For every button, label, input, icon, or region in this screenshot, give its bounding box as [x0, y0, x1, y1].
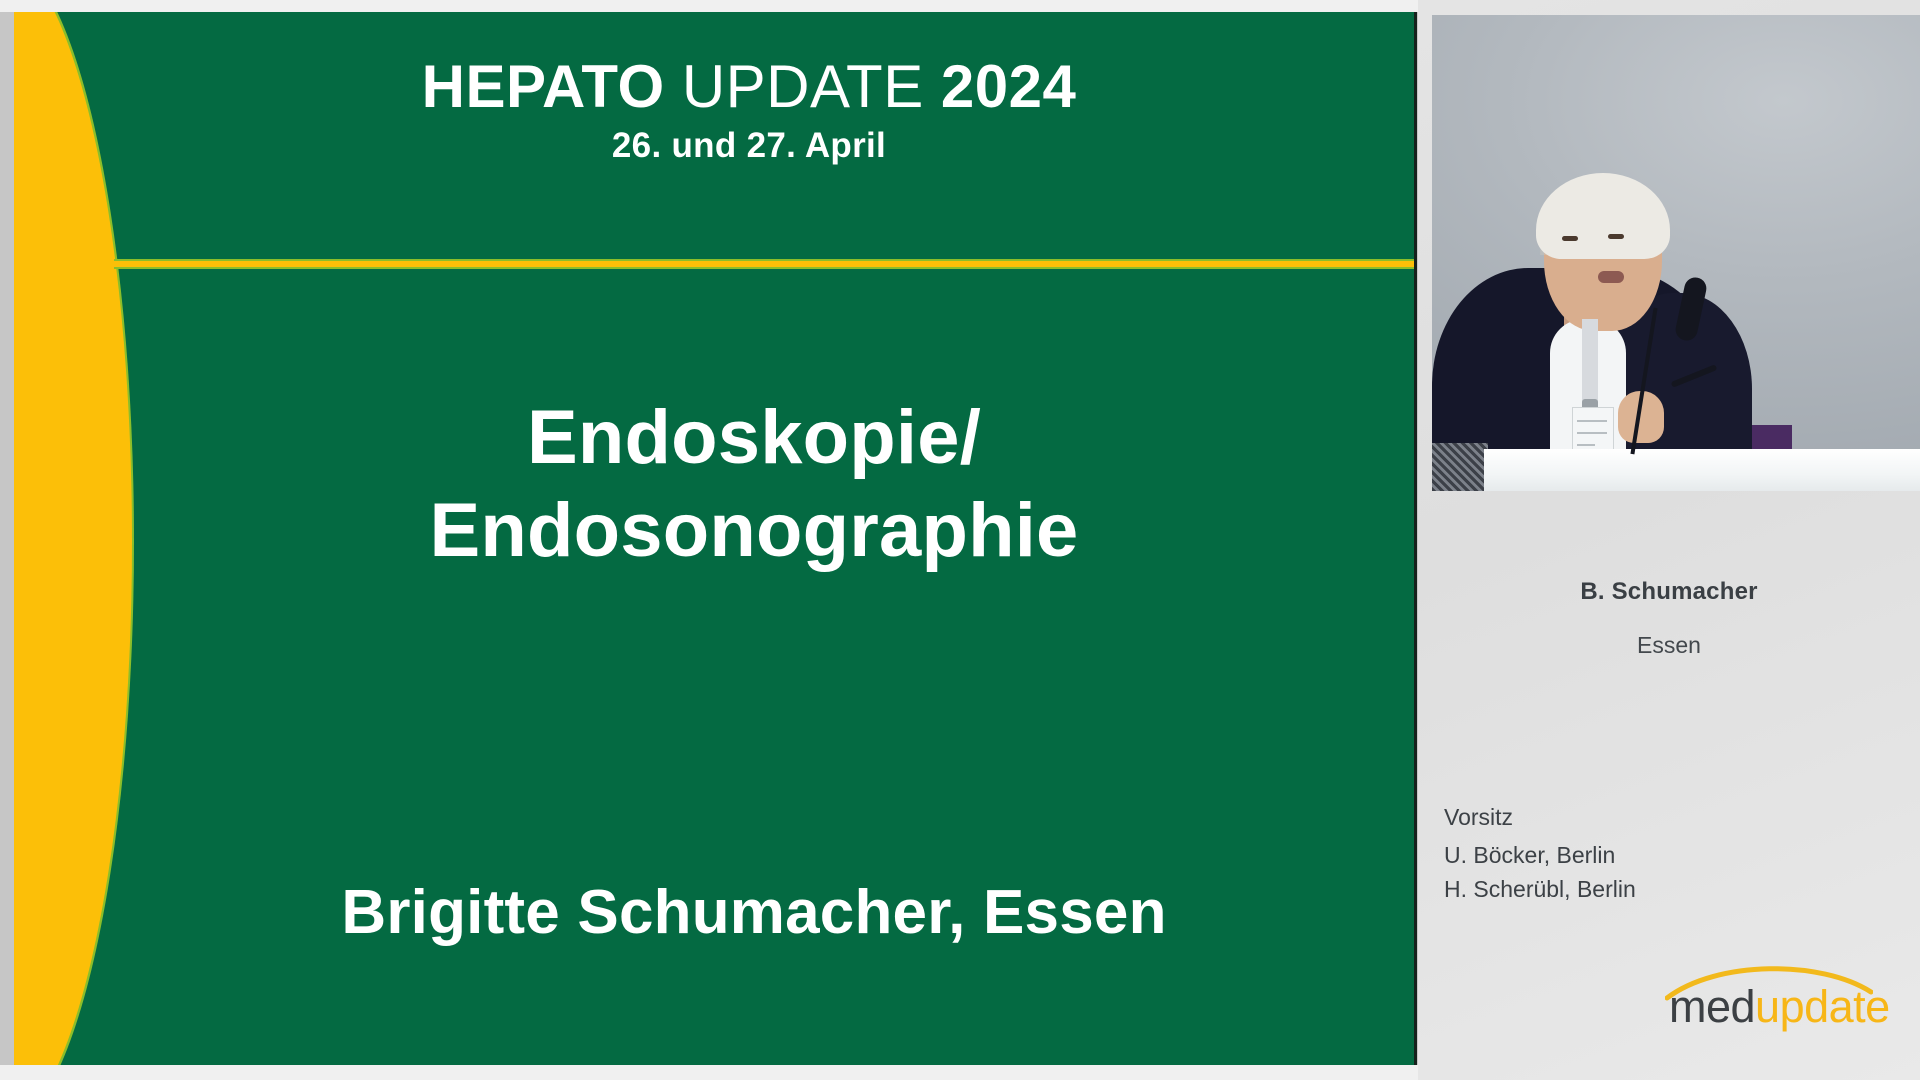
- presentation-slide[interactable]: HEPATO UPDATE 2024 26. und 27. April End…: [14, 12, 1417, 1065]
- speaker-video-feed[interactable]: [1432, 15, 1920, 491]
- speaker-mouth: [1598, 271, 1624, 283]
- speaker-panel: B. Schumacher Essen Vorsitz U. Böcker, B…: [1418, 0, 1920, 1080]
- accent-curve-yellow: [14, 12, 132, 1065]
- chair-person-2: H. Scherübl, Berlin: [1444, 872, 1636, 906]
- chair-label: Vorsitz: [1444, 800, 1636, 834]
- header-divider-rule: [114, 259, 1417, 269]
- event-year: 2024: [941, 53, 1076, 120]
- session-title-line-1: Endoskopie/: [164, 392, 1344, 485]
- event-name-regular: UPDATE: [682, 53, 924, 120]
- badge-text-line: [1577, 444, 1595, 446]
- speaker-city: Essen: [1418, 632, 1920, 659]
- event-dates: 26. und 27. April: [154, 126, 1344, 166]
- logo-part-med: med: [1669, 981, 1755, 1032]
- session-title-line-2: Endosonographie: [164, 485, 1344, 578]
- chair-person-1: U. Böcker, Berlin: [1444, 838, 1636, 872]
- session-title: Endoskopie/ Endosonographie: [164, 392, 1344, 577]
- logo-part-update: update: [1755, 981, 1890, 1032]
- badge-text-line: [1577, 432, 1607, 434]
- speaker-name: B. Schumacher: [1418, 578, 1920, 606]
- badge-text-line: [1577, 420, 1607, 422]
- chair-block: Vorsitz U. Böcker, Berlin H. Scherübl, B…: [1444, 800, 1636, 906]
- slide-header: HEPATO UPDATE 2024 26. und 27. April: [154, 56, 1344, 166]
- presentation-viewer: HEPATO UPDATE 2024 26. und 27. April End…: [0, 0, 1920, 1080]
- slide-panel: HEPATO UPDATE 2024 26. und 27. April End…: [0, 12, 1418, 1065]
- logo-wordmark: medupdate: [1669, 984, 1890, 1029]
- event-title: HEPATO UPDATE 2024: [154, 56, 1344, 118]
- speaker-eye-left: [1562, 236, 1578, 241]
- speaker-skirt: [1432, 443, 1488, 491]
- speaker-eye-right: [1608, 234, 1624, 239]
- lectern-podium: [1484, 449, 1920, 491]
- event-name-bold: HEPATO: [422, 53, 665, 120]
- slide-body: Endoskopie/ Endosonographie: [164, 392, 1344, 577]
- slide-presenter-name: Brigitte Schumacher, Essen: [164, 877, 1344, 948]
- medupdate-logo[interactable]: medupdate: [1665, 958, 1873, 1044]
